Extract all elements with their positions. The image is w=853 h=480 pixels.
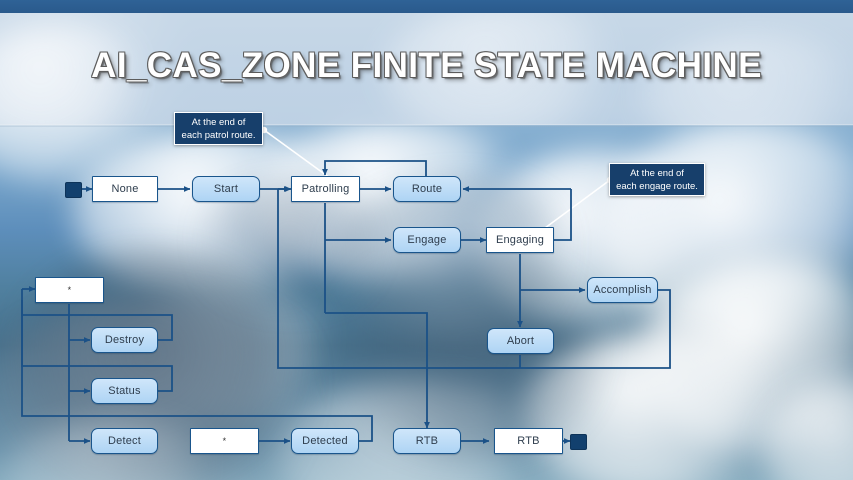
state-label: Destroy: [105, 334, 144, 346]
state-label: Detect: [108, 435, 141, 447]
state-label: None: [111, 183, 138, 195]
callout-engage-line1: At the end of: [630, 168, 684, 179]
callout-engage: At the end of each engage route.: [609, 163, 705, 196]
state-node-any-top[interactable]: *: [35, 277, 104, 303]
state-node-status[interactable]: Status: [91, 378, 158, 404]
state-label: Route: [412, 183, 442, 195]
callout-engage-leader: [545, 180, 610, 228]
callout-patrol-line2: each patrol route.: [182, 130, 256, 141]
state-node-none[interactable]: None: [92, 176, 158, 202]
state-node-rtb-white[interactable]: RTB: [494, 428, 563, 454]
slide-canvas: AI_CAS_ZONE FINITE STATE MACHINE .ln{fil…: [0, 0, 853, 480]
state-node-destroy[interactable]: Destroy: [91, 327, 158, 353]
edge-patrolling-rtb: [325, 313, 427, 428]
state-label: Status: [108, 385, 140, 397]
callout-patrol: At the end of each patrol route.: [174, 112, 263, 145]
state-node-any-bottom[interactable]: *: [190, 428, 259, 454]
state-node-detect[interactable]: Detect: [91, 428, 158, 454]
state-label: Accomplish: [593, 284, 651, 296]
state-label: *: [68, 285, 72, 295]
state-node-start[interactable]: Start: [192, 176, 260, 202]
state-label: Start: [214, 183, 238, 195]
callout-engage-line2: each engage route.: [616, 181, 698, 192]
state-label: Patrolling: [302, 183, 350, 195]
state-node-patrolling[interactable]: Patrolling: [291, 176, 360, 202]
state-node-accomplish[interactable]: Accomplish: [587, 277, 658, 303]
state-node-abort[interactable]: Abort: [487, 328, 554, 354]
callout-patrol-leader: [264, 130, 330, 178]
state-label: Detected: [302, 435, 348, 447]
edge-detected-return: [22, 300, 372, 441]
state-label: Abort: [507, 335, 534, 347]
state-node-route[interactable]: Route: [393, 176, 461, 202]
state-node-engage[interactable]: Engage: [393, 227, 461, 253]
state-node-detected[interactable]: Detected: [291, 428, 359, 454]
state-node-rtb-blue[interactable]: RTB: [393, 428, 461, 454]
end-terminal[interactable]: [570, 434, 587, 450]
state-label: RTB: [416, 435, 438, 447]
start-terminal[interactable]: [65, 182, 82, 198]
state-label: Engaging: [496, 234, 544, 246]
state-node-engaging[interactable]: Engaging: [486, 227, 554, 253]
edge-route-patrolling: [325, 161, 426, 176]
state-label: RTB: [517, 435, 539, 447]
edge-return-rail: [278, 189, 325, 368]
state-label: *: [223, 436, 227, 446]
callout-patrol-line1: At the end of: [192, 117, 246, 128]
state-label: Engage: [407, 234, 446, 246]
